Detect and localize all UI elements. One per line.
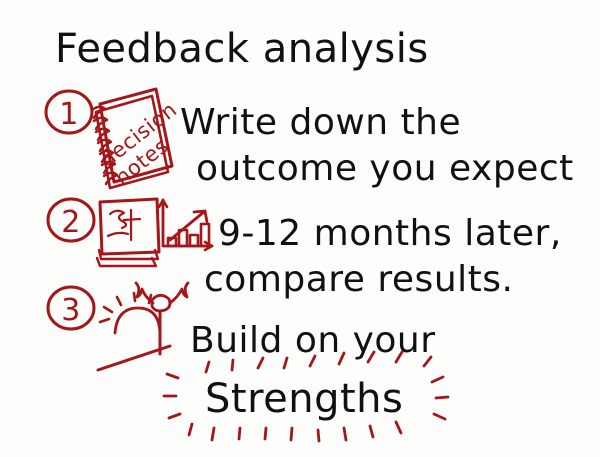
hill-slope — [98, 346, 170, 370]
page-title: Feedback analysis — [55, 26, 429, 72]
person-left-arm — [136, 283, 153, 303]
item-1-text-line-1: Write down the — [180, 102, 461, 143]
whiteboard-drawing: Feedback analysis 1 decision — [0, 0, 600, 457]
item-3-text-line-2: Strengths — [205, 376, 403, 422]
item-1-number-badge: 1 — [46, 91, 92, 133]
arch-shape — [115, 308, 160, 333]
item-2-text-line-1: 9-12 months later, — [218, 213, 562, 254]
item-1-text-line-2: outcome you expect — [196, 148, 574, 189]
bar-3 — [190, 235, 198, 246]
item-1-number: 1 — [59, 97, 79, 132]
decision-notes-notebook-icon: decision notes — [92, 89, 181, 190]
report-page-scribbles — [108, 210, 140, 240]
item-3-number-badge: 3 — [48, 287, 94, 329]
whiteboard-canvas: Feedback analysis 1 decision — [0, 0, 600, 457]
item-3-number: 3 — [61, 293, 81, 328]
person-head — [152, 295, 170, 311]
item-2-text-line-2: compare results. — [204, 259, 513, 300]
person-celebrating-on-hill-icon — [98, 283, 188, 370]
item-2-number: 2 — [61, 205, 81, 240]
person-right-arm — [170, 283, 188, 303]
item-2-number-badge: 2 — [48, 199, 94, 241]
report-and-bar-chart-icon — [97, 199, 212, 266]
report-front-page — [100, 199, 159, 254]
